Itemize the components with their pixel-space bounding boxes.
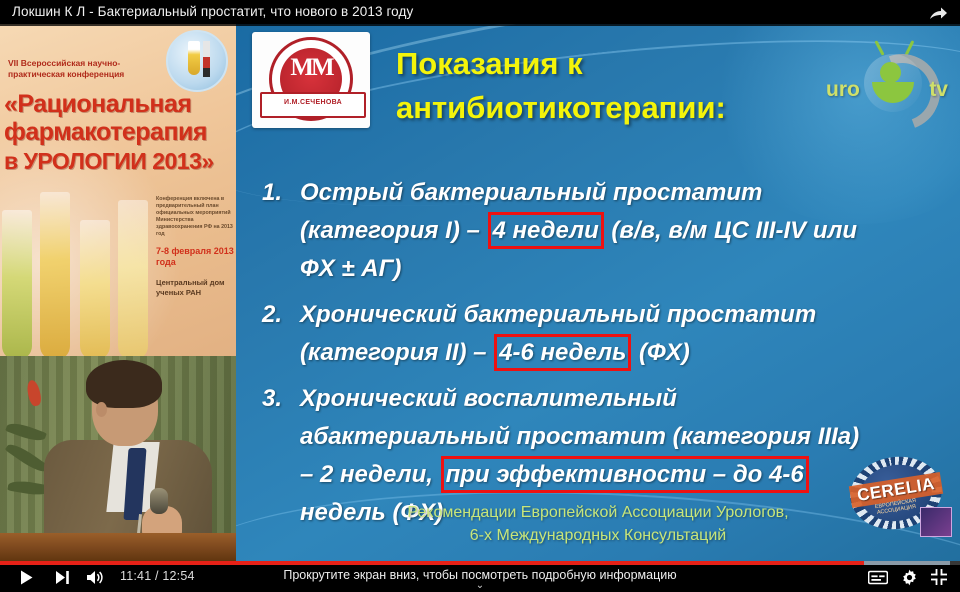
highlighted-phrase: при эффективности – до 4-6 [441,456,809,493]
poster-fine-print: Конференция включена в предварительный п… [156,196,234,238]
speaker-inset [0,356,236,561]
poster-title-line-2: фармакотерапия [4,118,207,147]
video-stage[interactable]: VII Всероссийская научно-практическая ко… [0,24,960,561]
slide-text-segment: абактериальный простатит (категория IIIa… [300,423,859,450]
share-button[interactable] [926,2,950,24]
settings-button[interactable] [901,567,918,587]
chevron-down-icon[interactable]: ⌄ [0,582,960,590]
poster-dates: 7-8 февраля 2013 года [156,246,234,268]
video-player: Локшин К Л - Бактериальный простатит, чт… [0,0,960,592]
poster-test-tubes [0,180,166,356]
podium [0,533,236,561]
poster-venue: Центральный дом ученых РАН [156,278,234,298]
slide-list-item-number: 3. [262,380,282,418]
watermark-text-right: tv [929,78,948,102]
slide-text-segment: Хронический воспалительный [300,385,677,412]
slide-text-segment: Острый бактериальный простатит [300,179,762,206]
slide-list-item-line: ФХ ± АГ) [300,250,960,288]
slide-list-item-line: (категория II) – 4-6 недель (ФХ) [300,334,960,372]
slide-list-item-number: 2. [262,296,282,334]
slide-list-item-line: Хронический воспалительный [300,380,960,418]
slide-list-item-number: 1. [262,174,282,212]
share-arrow-icon [926,2,950,24]
progress-bar[interactable] [0,561,960,565]
slide-text-segment: (в/в, в/м ЦС III-IV или [605,217,857,244]
poster-title-line-3: в УРОЛОГИИ 2013» [4,148,214,175]
flask-emblem-icon [166,30,228,92]
slide-list-item-line: Хронический бактериальный простатит [300,296,960,334]
slide-list-item-line: Острый бактериальный простатит [300,174,960,212]
uro-tv-watermark: uro tv [822,42,950,128]
poster-side-info: Конференция включена в предварительный п… [156,196,234,298]
subtitles-icon [868,570,888,585]
slide-text-segment: – 2 недели, [300,461,440,488]
slide-list-item-line: абактериальный простатит (категория IIIa… [300,418,960,456]
slide-text-segment: (категория I) – [300,217,487,244]
presentation-slide: ММ И.М.СЕЧЕНОВА Показания к антибиотикот… [236,24,960,561]
sechenov-university-seal-icon: ММ И.М.СЕЧЕНОВА [252,32,370,128]
captions-button[interactable] [868,567,888,587]
seal-letters: ММ [272,56,350,80]
conference-poster: VII Всероссийская научно-практическая ко… [0,24,236,356]
slide-list-item: 2.Хронический бактериальный простатит(ка… [254,296,960,372]
watermark-text-left: uro [826,78,860,102]
slide-text-segment: (категория II) – [300,339,493,366]
cerelia-stamp: CERELIA ЕВРОПЕЙСКАЯ АССОЦИАЦИЯ [844,457,948,531]
slide-text-segment: ФХ ± АГ) [300,255,401,282]
video-title: Локшин К Л - Бактериальный простатит, чт… [12,4,413,19]
poster-title-line-1: «Рациональная [4,90,192,119]
seal-ribbon-text: И.М.СЕЧЕНОВА [262,94,364,112]
player-control-bar: 11:41 / 12:54 Прокрутите экран вниз, что… [0,561,960,592]
highlighted-phrase: 4-6 недель [494,334,631,371]
exit-fullscreen-icon [930,568,948,586]
highlighted-phrase: 4 недели [488,212,604,249]
player-title-bar: Локшин К Л - Бактериальный простатит, чт… [0,0,960,26]
gear-icon [901,569,918,586]
progress-played [0,561,864,565]
slide-list-item: 1.Острый бактериальный простатит(категор… [254,174,960,288]
slide-text-segment: (ФХ) [632,339,689,366]
microphone-icon [150,488,168,514]
slide-list-item-line: (категория I) – 4 недели (в/в, в/м ЦС II… [300,212,960,250]
slide-text-segment: Хронический бактериальный простатит [300,301,816,328]
poster-conference-line: VII Всероссийская научно-практическая ко… [8,58,146,80]
fullscreen-button[interactable] [930,567,948,587]
